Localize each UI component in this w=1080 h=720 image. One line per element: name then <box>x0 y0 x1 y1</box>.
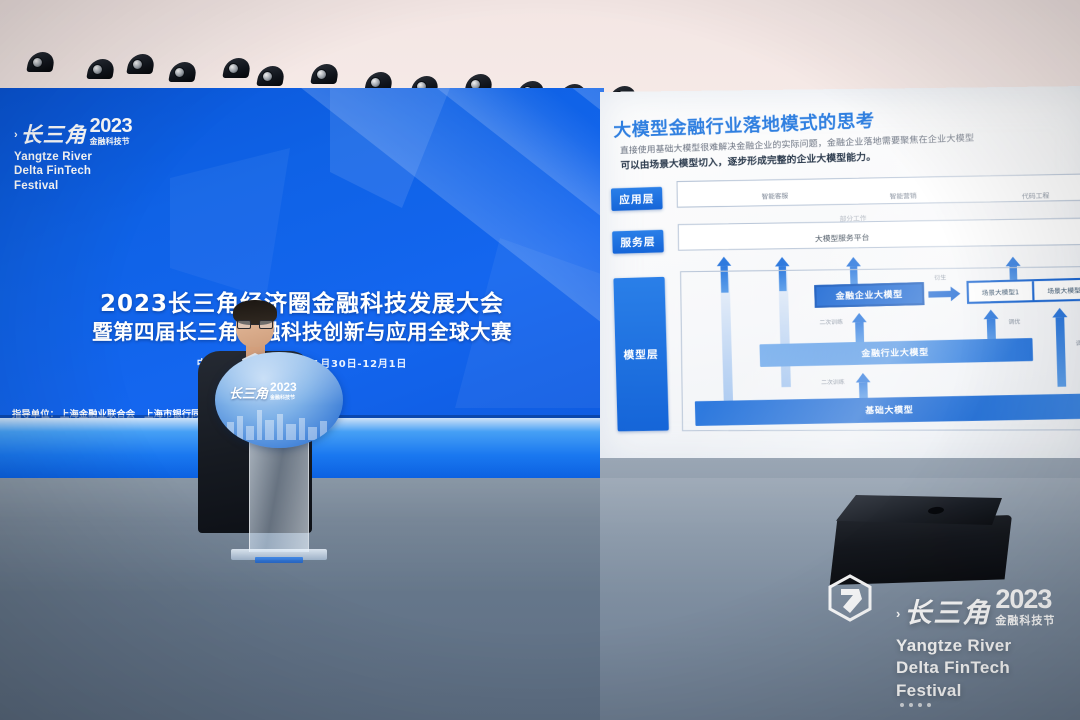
application-layer-panel <box>677 173 1080 207</box>
logo-en-line-2: Delta FinTech <box>14 164 132 178</box>
logo-year: 2023 <box>90 115 133 137</box>
glasses-icon <box>237 320 273 329</box>
app-item-label: 代码工程 <box>1022 190 1050 200</box>
slide-content: 大模型金融行业落地模式的思考 直接使用基础大模型很难解决金融企业的实际问题，金融… <box>600 86 1080 470</box>
arrow-label-secondary-training: 二次训练 <box>821 378 845 387</box>
app-item-label: 智能营销 <box>889 191 916 201</box>
stage-light-icon <box>128 54 154 76</box>
watermark-en-line-2: Delta FinTech <box>896 657 1055 679</box>
layer-tag-service: 服务层 <box>612 230 664 254</box>
skyline-icon <box>223 400 335 440</box>
watermark-cn-subtitle: 金融科技节 <box>995 616 1055 627</box>
stage-light-icon <box>170 62 196 84</box>
watermark-year: 2023 <box>995 584 1051 614</box>
hexagon-brand-icon <box>826 574 874 622</box>
presentation-screen: 大模型金融行业落地模式的思考 直接使用基础大模型很难解决金融企业的实际问题，金融… <box>600 86 1080 470</box>
festival-logo-backdrop: › 长三角 2023 金融科技节 Yangtze River Delta Fin… <box>14 116 132 193</box>
arrow-label-secondary-training: 二次训练 <box>819 317 843 326</box>
stage-light-icon <box>312 64 338 86</box>
service-platform-label: 大模型服务平台 <box>815 232 870 245</box>
logo-en-line-1: Yangtze River <box>14 150 132 164</box>
backdrop-polygon <box>170 148 290 298</box>
watermark-dots <box>900 703 931 707</box>
watermark-text: › 长三角 2023 金融科技节 Yangtze River Delta Fin… <box>896 586 1055 702</box>
scenario-model-2: 场景大模型2 <box>1034 280 1080 301</box>
watermark-en-line-3: Festival <box>896 680 1055 702</box>
scenario-models-group: 场景大模型1 场景大模型2 <box>966 277 1080 304</box>
arrow-label-tuning: 调优 <box>1008 317 1020 326</box>
watermark-en-line-1: Yangtze River <box>896 635 1055 657</box>
app-item-label: 智能客服 <box>761 191 788 201</box>
watermark-logo: › 长三角 2023 金融科技节 Yangtze River Delta Fin… <box>818 572 1080 718</box>
podium-logo: 长三角 2023 金融科技节 <box>229 378 297 401</box>
podium-emblem: 长三角 2023 金融科技节 <box>215 352 343 448</box>
arrow-label-derive: 衍生 <box>934 273 946 282</box>
monitor-handle-slot <box>928 506 945 515</box>
stage-light-icon <box>224 58 250 80</box>
monitor-top <box>836 495 1002 525</box>
podium-logo-subtitle: 金融科技节 <box>270 396 297 401</box>
podium: 长三角 2023 金融科技节 <box>215 352 343 560</box>
logo-arrow-icon: › <box>14 130 18 141</box>
podium-base-accent <box>255 557 303 563</box>
stage-light-icon <box>258 66 284 88</box>
enterprise-model-box: 金融企业大模型 <box>814 282 924 308</box>
layer-tag-application: 应用层 <box>611 187 663 211</box>
podium-column <box>249 440 309 552</box>
logo-cn-mark: 长三角 <box>21 125 87 146</box>
stage-light-icon <box>28 52 54 74</box>
stage-light-icon <box>88 59 114 81</box>
podium-logo-cn: 长三角 <box>229 388 268 401</box>
logo-en-line-3: Festival <box>14 179 132 193</box>
slide-architecture-diagram: 应用层 智能客服 智能营销 代码工程 部分工作 服务层 大模型服务平台 <box>611 168 1080 458</box>
watermark-arrow-icon: › <box>896 607 900 620</box>
conference-stage-photo: › 长三角 2023 金融科技节 Yangtze River Delta Fin… <box>0 0 1080 720</box>
logo-cn-subtitle: 金融科技节 <box>90 138 133 146</box>
scenario-model-1: 场景大模型1 <box>969 281 1033 302</box>
layer-tag-model: 模型层 <box>613 277 668 432</box>
service-layer-panel <box>678 218 1080 251</box>
right-arrow-icon <box>928 283 963 305</box>
podium-logo-year: 2023 <box>270 380 297 394</box>
watermark-cn-mark: 长三角 <box>904 600 991 627</box>
arrow-label-tuning: 调优 <box>1076 339 1080 348</box>
